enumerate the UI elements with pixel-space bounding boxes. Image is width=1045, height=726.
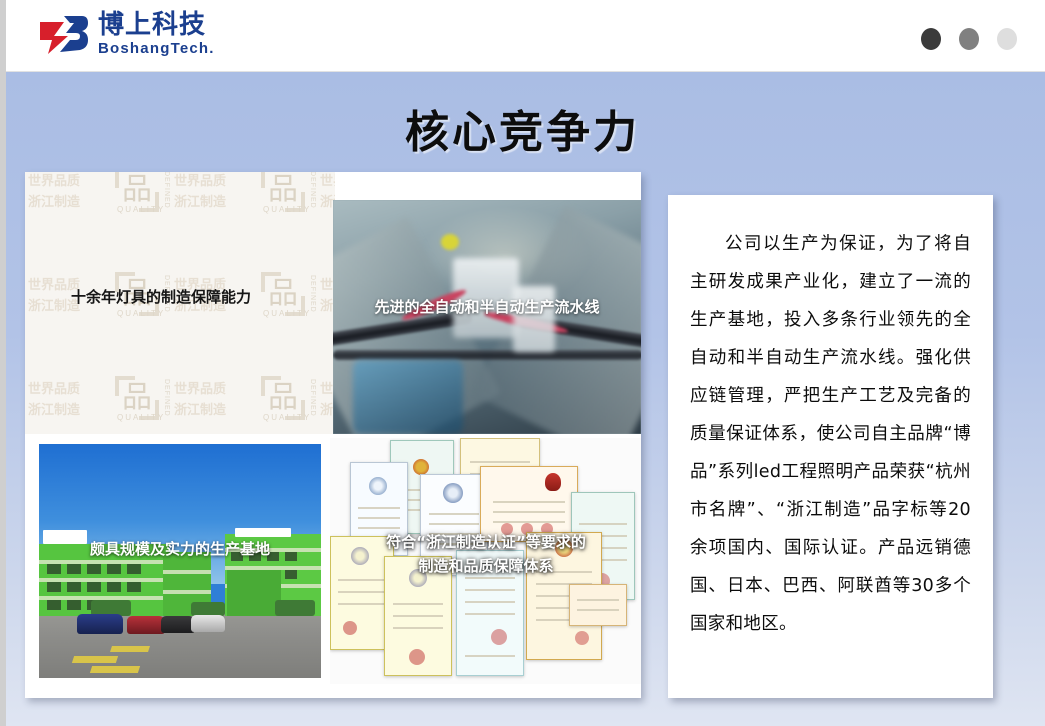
manufacturing-capability-caption: 十余年灯具的制造保障能力: [71, 286, 251, 307]
dot-dark[interactable]: [921, 28, 941, 50]
page-title: 核心竞争力: [0, 96, 1045, 160]
manufacturing-capability-image: 品QUALITYDEFINED世界品质浙江制造 品QUALITYDEFINED世…: [25, 172, 335, 434]
pin-glyph-icon: 品: [122, 173, 152, 207]
left-edge-rail: [0, 0, 6, 726]
pin-glyph-icon: 品: [268, 173, 298, 207]
pin-glyph-icon: 品: [268, 277, 298, 311]
boshang-logo-icon: [38, 12, 90, 56]
dot-medium[interactable]: [959, 28, 979, 50]
logo-name-en: BoshangTech.: [98, 41, 215, 56]
company-logo[interactable]: 博上科技 BoshangTech.: [38, 12, 215, 56]
certifications-caption-line1: 符合“浙江制造认证”等要求的: [386, 533, 586, 551]
certifications-caption: 符合“浙江制造认证”等要求的 制造和品质保障体系: [338, 530, 634, 578]
dot-light[interactable]: [997, 28, 1017, 50]
production-base-image: 颇具规模及实力的生产基地: [39, 444, 321, 678]
window-controls[interactable]: [921, 28, 1017, 50]
slide-root: 博上科技 BoshangTech. 核心竞争力 品QUALITYDEFINED世…: [0, 0, 1045, 726]
logo-name-cn: 博上科技: [98, 12, 215, 38]
production-base-caption: 颇具规模及实力的生产基地: [45, 538, 315, 559]
certifications-image: 符合“浙江制造认证”等要求的 制造和品质保障体系: [330, 438, 641, 684]
production-line-caption: 先进的全自动和半自动生产流水线: [347, 296, 627, 317]
pin-glyph-icon: 品: [268, 381, 298, 415]
logo-text-block: 博上科技 BoshangTech.: [98, 12, 215, 56]
pin-glyph-icon: 品: [122, 381, 152, 415]
header-divider: [0, 71, 1045, 72]
certifications-caption-line2: 制造和品质保障体系: [418, 557, 553, 575]
production-line-image: 先进的全自动和半自动生产流水线: [333, 200, 641, 434]
description-text: 公司以生产为保证，为了将自主研发成果产业化，建立了一流的生产基地，投入多条行业领…: [668, 195, 993, 643]
description-panel: 公司以生产为保证，为了将自主研发成果产业化，建立了一流的生产基地，投入多条行业领…: [668, 195, 993, 698]
image-collage-panel: 品QUALITYDEFINED世界品质浙江制造 品QUALITYDEFINED世…: [25, 172, 641, 698]
page-header: 博上科技 BoshangTech.: [0, 0, 1045, 72]
